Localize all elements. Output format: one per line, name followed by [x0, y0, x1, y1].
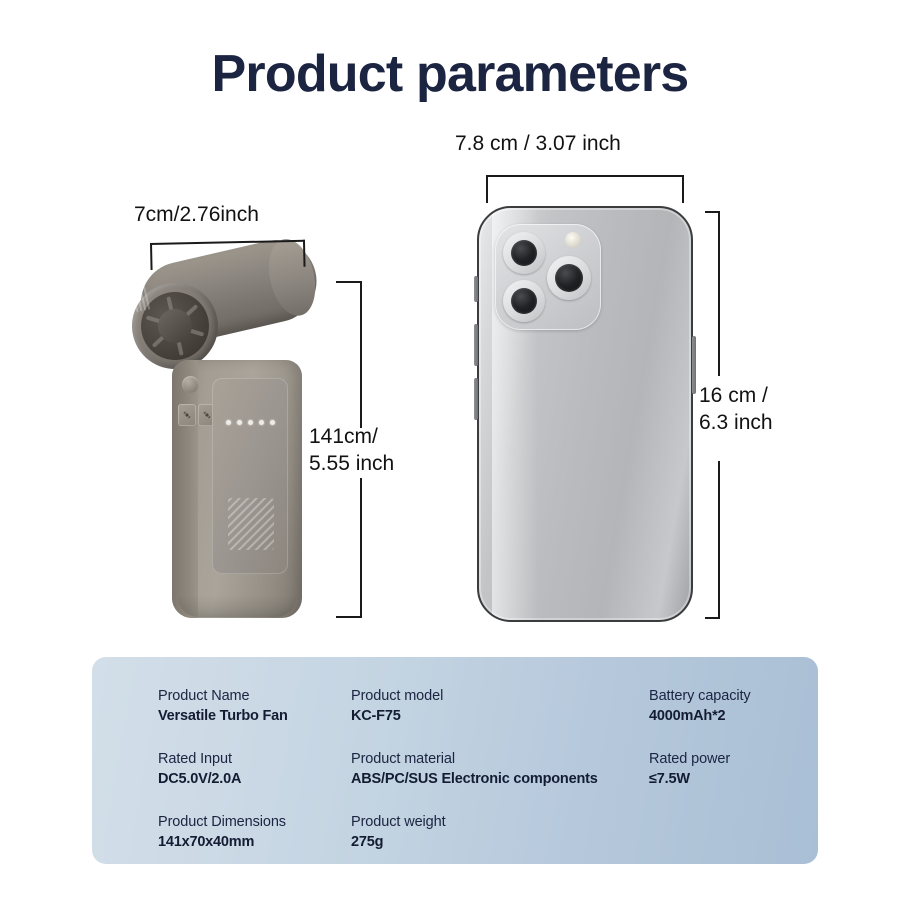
dimension-label-fan-height: 141cm/ 5.55 inch — [309, 424, 394, 478]
spec-value: DC5.0V/2.0A — [158, 771, 351, 787]
specifications-grid: Product Name Versatile Turbo Fan Product… — [158, 688, 798, 850]
page-title: Product parameters — [0, 44, 900, 104]
spec-cell-product-dimensions: Product Dimensions 141x70x40mm — [158, 814, 351, 850]
phone-volume-down-button — [474, 378, 478, 420]
power-button-icon — [182, 376, 199, 393]
spec-cell-product-name: Product Name Versatile Turbo Fan — [158, 688, 351, 724]
specifications-panel: Product Name Versatile Turbo Fan Product… — [92, 657, 818, 864]
spec-label: Rated power — [649, 751, 798, 767]
camera-flash-icon — [565, 232, 581, 248]
fan-handle-body — [172, 360, 302, 618]
dimension-bracket-phone-width — [486, 175, 684, 205]
phone-mute-switch — [474, 276, 478, 302]
fan-battery-panel — [212, 378, 288, 574]
spec-value: Versatile Turbo Fan — [158, 708, 351, 724]
spec-value: ≤7.5W — [649, 771, 798, 787]
dimension-label-fan-width: 7cm/2.76inch — [134, 202, 259, 229]
fan-mode-buttons — [178, 404, 216, 426]
spec-cell-rated-input: Rated Input DC5.0V/2.0A — [158, 751, 351, 787]
spec-cell-product-material: Product material ABS/PC/SUS Electronic c… — [351, 751, 649, 787]
spec-value: 4000mAh*2 — [649, 708, 798, 724]
infographic-page: Product parameters — [0, 0, 900, 900]
fan-handle-edge — [172, 360, 198, 618]
spec-label: Product weight — [351, 814, 649, 830]
phone-power-button — [692, 336, 696, 394]
phone-body — [477, 206, 693, 622]
spec-label: Product Name — [158, 688, 351, 704]
battery-led-indicators — [226, 420, 276, 426]
fan-bottom-shadow — [178, 595, 296, 617]
camera-lens-icon — [503, 280, 545, 322]
spec-label: Battery capacity — [649, 688, 798, 704]
spec-cell-empty — [649, 814, 798, 850]
spec-cell-rated-power: Rated power ≤7.5W — [649, 751, 798, 787]
spec-cell-battery-capacity: Battery capacity 4000mAh*2 — [649, 688, 798, 724]
dimension-label-phone-width: 7.8 cm / 3.07 inch — [455, 131, 621, 158]
camera-lens-icon — [503, 232, 545, 274]
spec-label: Product model — [351, 688, 649, 704]
phone-camera-module — [495, 224, 601, 330]
spec-cell-product-model: Product model KC-F75 — [351, 688, 649, 724]
spec-cell-product-weight: Product weight 275g — [351, 814, 649, 850]
dimension-bracket-fan-width — [150, 240, 306, 273]
spec-value: 275g — [351, 834, 649, 850]
camera-lens-icon — [547, 256, 591, 300]
spec-label: Rated Input — [158, 751, 351, 767]
phone-volume-up-button — [474, 324, 478, 366]
spec-value: KC-F75 — [351, 708, 649, 724]
fan-speed-icon — [178, 404, 196, 426]
spec-label: Product Dimensions — [158, 814, 351, 830]
spec-label: Product material — [351, 751, 649, 767]
spec-value: ABS/PC/SUS Electronic components — [351, 771, 649, 787]
spec-value: 141x70x40mm — [158, 834, 351, 850]
dimension-label-phone-height: 16 cm / 6.3 inch — [699, 383, 773, 437]
product-image-phone — [477, 206, 693, 622]
grip-texture — [228, 498, 274, 550]
